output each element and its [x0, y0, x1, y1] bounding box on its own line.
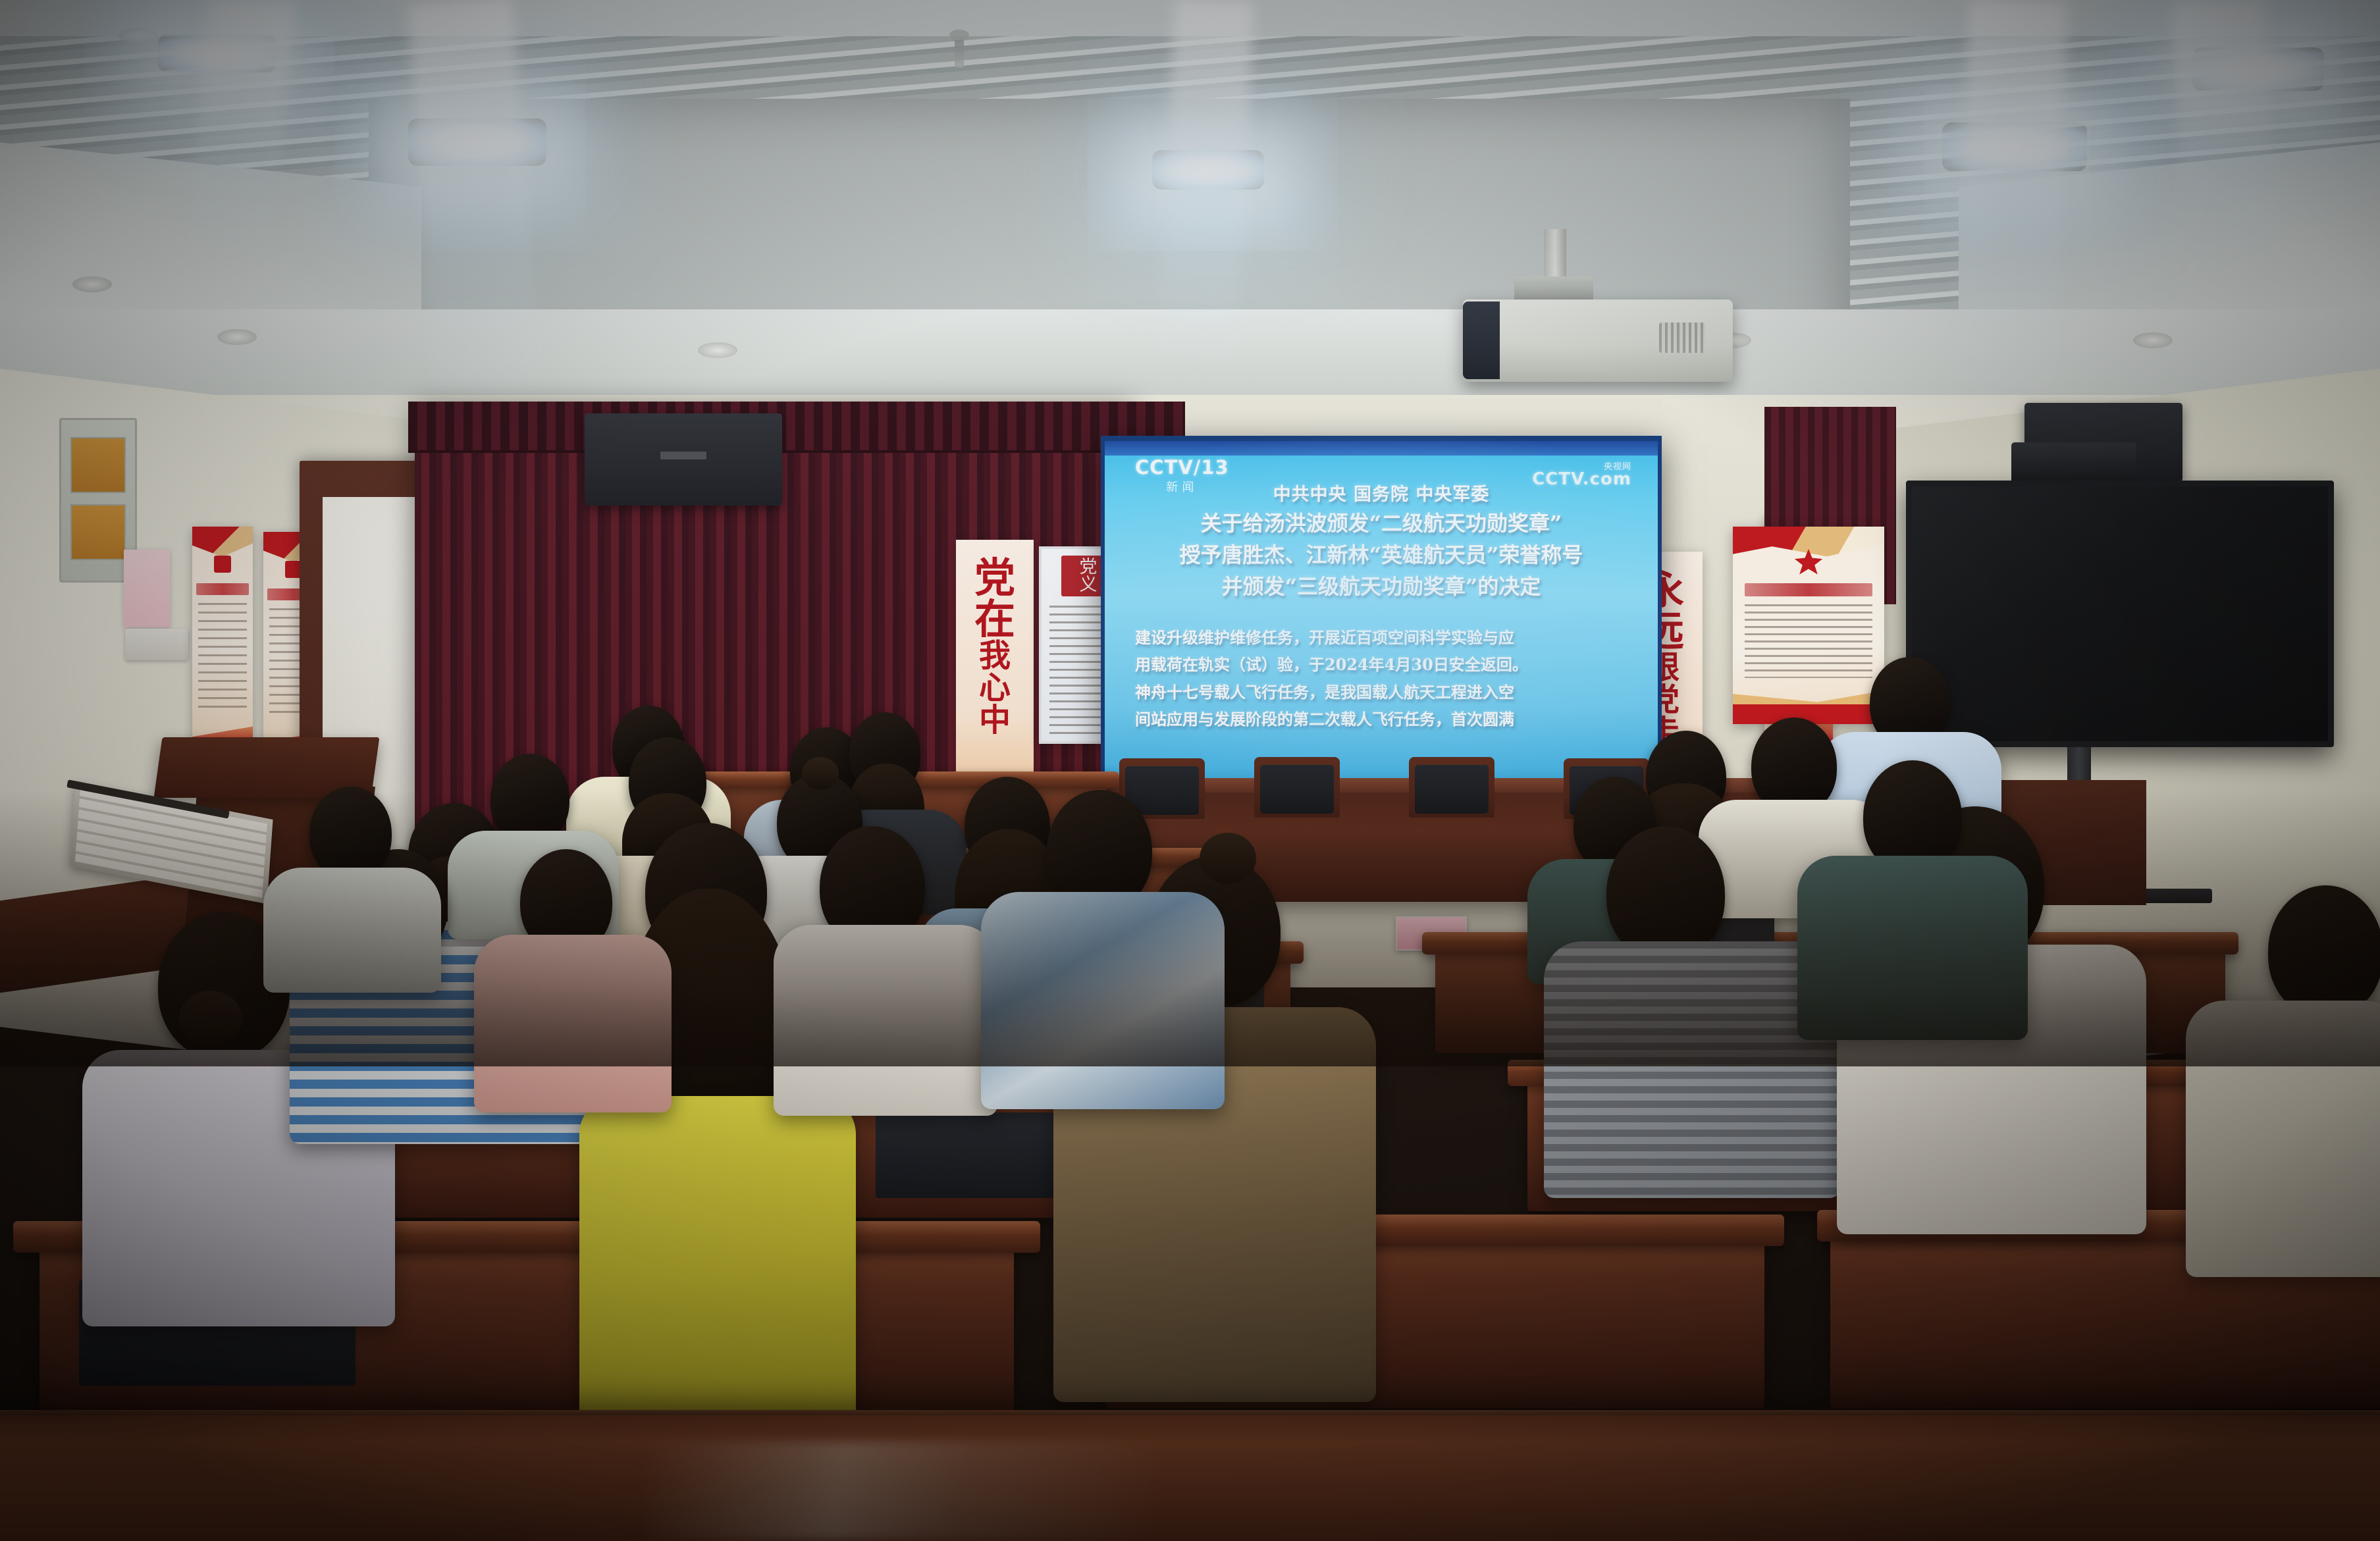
poster-body-text — [198, 603, 247, 711]
curtain-valance — [408, 402, 1185, 453]
projector-mount — [1544, 229, 1566, 282]
downlight-icon — [119, 28, 158, 43]
poster-header-char: 党 — [1080, 558, 1097, 576]
wall-speaker — [585, 413, 782, 506]
ceiling-light — [408, 118, 546, 166]
body-line-3: 神舟十七号载人飞行任务，是我国载人航天工程进入空 — [1135, 679, 1627, 706]
downlight-icon — [698, 342, 737, 358]
projection-screen: CCTV/13 新闻 央视网 CCTV.com 中共中央 国务院 中央军委 关于… — [1101, 436, 1662, 786]
broadcast-body-text: 建设升级维护维修任务，开展近百项空间科学实验与应 用载荷在轨实（试）验，于202… — [1135, 624, 1627, 733]
body-line-2: 用载荷在轨实（试）验，于2024年4月30日安全返回。 — [1135, 651, 1627, 678]
body-line-4: 间站应用与发展阶段的第二次载人飞行任务，首次圆满 — [1135, 706, 1627, 733]
downlight-icon — [2133, 332, 2173, 348]
projected-broadcast: CCTV/13 新闻 央视网 CCTV.com 中共中央 国务院 中央军委 关于… — [1105, 441, 1658, 782]
meeting-room-photo: 党 在 我 心 中 永 远 跟 党 走 党 义 CCTV/13 新闻 — [0, 0, 2380, 1541]
attendee-torso — [579, 1096, 856, 1438]
headline-line-4: 并颁发“三级航天功勋奖章”的决定 — [1105, 571, 1658, 602]
ceiling-light — [2192, 47, 2324, 91]
banner-char: 在 — [974, 598, 1015, 640]
headline-line-3: 授予唐胜杰、江新林“英雄航天员”荣誉称号 — [1105, 539, 1658, 571]
banner-char: 中 — [979, 704, 1011, 737]
party-emblem-icon — [214, 556, 231, 573]
poster-title-bar — [196, 583, 249, 595]
tv-screen — [1912, 486, 2328, 741]
downlight-icon — [72, 276, 112, 292]
poster-header-char: 义 — [1080, 576, 1097, 594]
poster-body-text — [1745, 604, 1872, 678]
banner-char: 心 — [979, 672, 1011, 704]
poster-bottom-decoration — [1733, 683, 1884, 724]
broadcast-headline: 中共中央 国务院 中央军委 关于给汤洪波颁发“二级航天功勋奖章” 授予唐胜杰、江… — [1105, 482, 1658, 602]
headline-line-2: 关于给汤洪波颁发“二级航天功勋奖章” — [1105, 508, 1658, 539]
headline-line-1: 中共中央 国务院 中央军委 — [1105, 482, 1658, 508]
banner-char: 我 — [979, 640, 1011, 672]
body-line-1: 建设升级维护维修任务，开展近百项空间科学实验与应 — [1135, 624, 1627, 651]
foreground-desk — [0, 1415, 2380, 1541]
right-wall-party-poster — [1733, 527, 1884, 724]
room-shadow — [0, 790, 2380, 1066]
projector-lens-icon — [1463, 301, 1500, 379]
light-switch[interactable] — [125, 629, 188, 660]
cctv13-logo-main: CCTV/13 — [1135, 458, 1229, 477]
poster-title-bar — [1745, 583, 1872, 596]
ceiling-light — [158, 34, 277, 72]
party-poster — [192, 527, 253, 750]
flat-panel-tv[interactable] — [1906, 481, 2334, 747]
attendee-hair-bun — [802, 757, 839, 790]
ceiling-light — [1942, 122, 2087, 171]
pink-notice-sign — [124, 550, 170, 627]
ceiling-light — [1152, 150, 1264, 190]
tv-camera-bar — [2011, 442, 2136, 483]
sprinkler-icon — [955, 36, 964, 68]
downlight-icon — [217, 329, 257, 345]
banner-char: 党 — [974, 557, 1015, 598]
projector-vent — [1659, 323, 1705, 353]
